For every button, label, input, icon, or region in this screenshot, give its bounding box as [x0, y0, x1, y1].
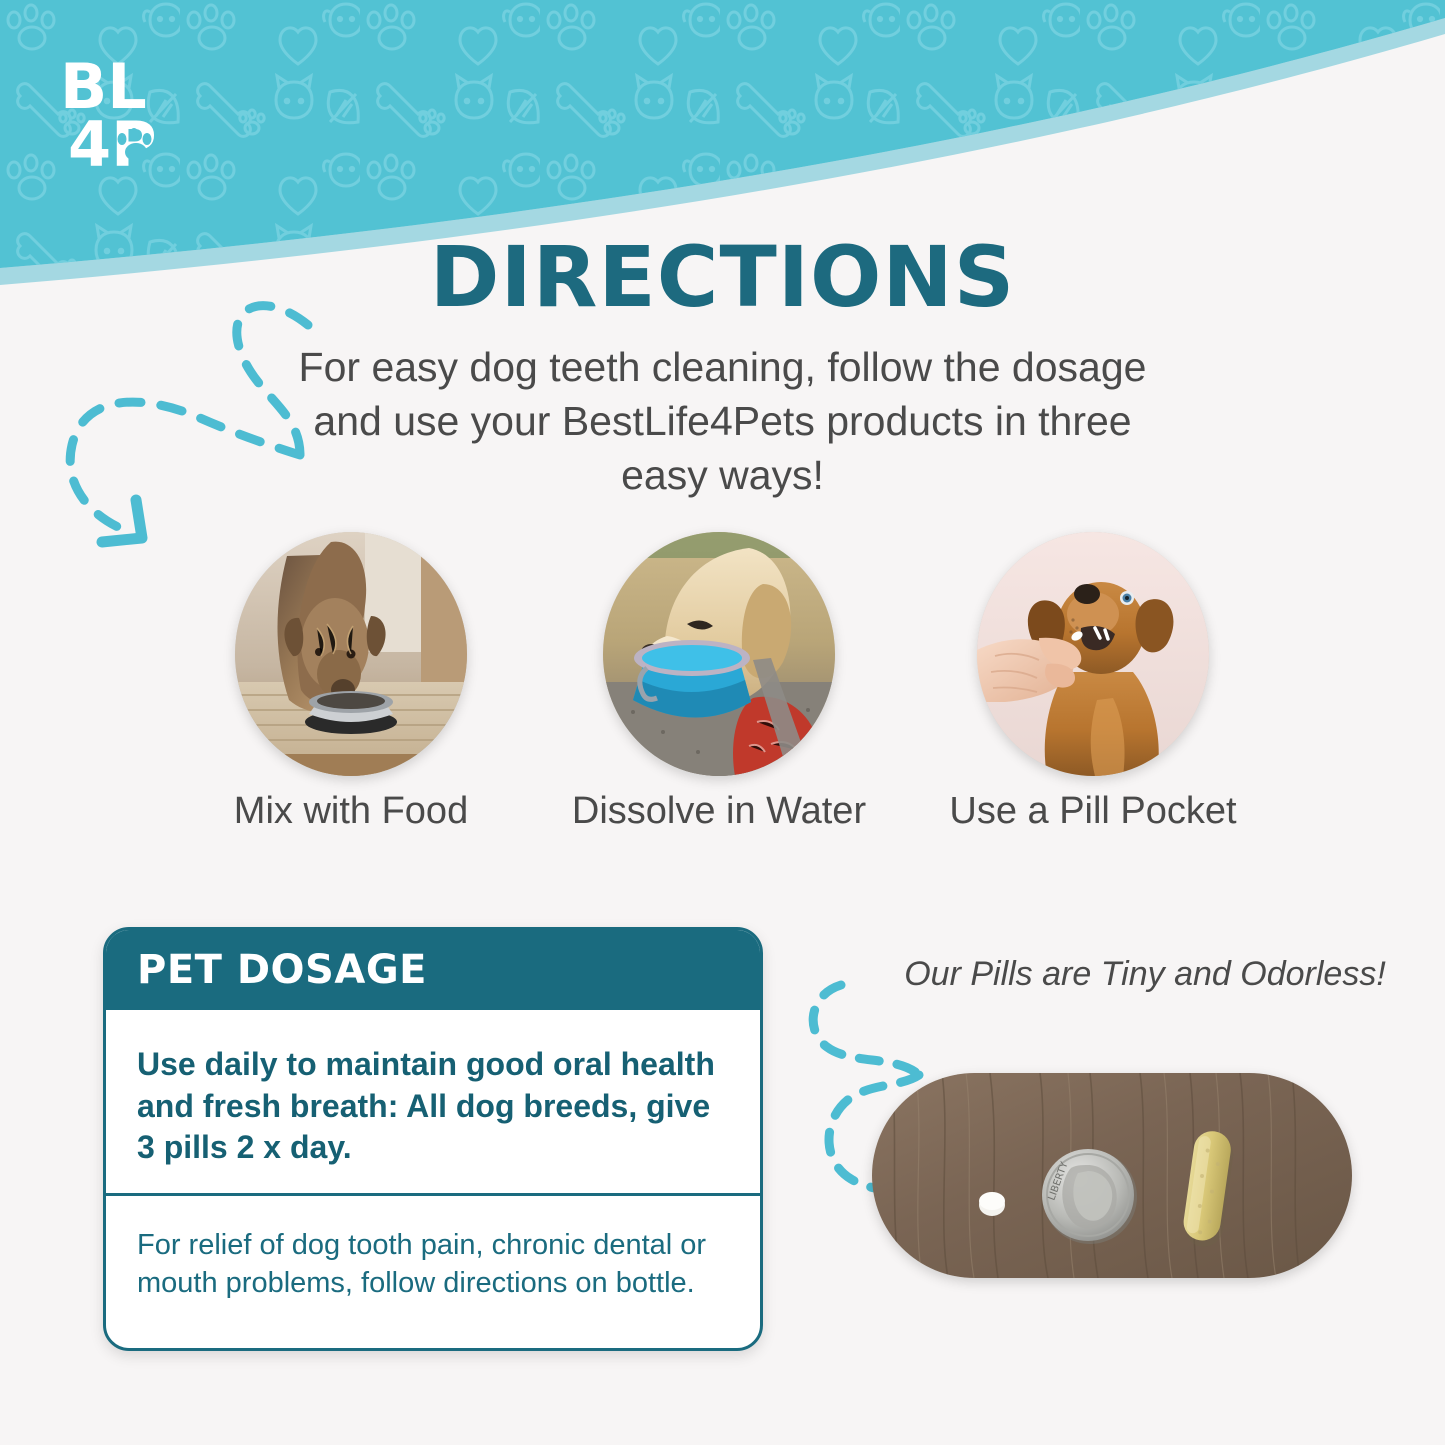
pet-dosage-card-header: PET DOSAGE: [106, 930, 760, 1010]
option-label-dissolve-in-water: Dissolve in Water: [548, 790, 890, 833]
option-image-use-a-pill-pocket: [977, 532, 1209, 776]
pet-dosage-secondary-section: For relief of dog tooth pain, chronic de…: [106, 1196, 760, 1303]
pills-scale-photo: LIBERTY: [872, 1073, 1352, 1278]
pet-dosage-card: PET DOSAGE Use daily to maintain good or…: [103, 927, 763, 1351]
option-use-a-pill-pocket[interactable]: Use a Pill Pocket: [977, 532, 1209, 776]
tiny-pill-icon: [979, 1192, 1005, 1216]
option-image-dissolve-in-water: [603, 532, 835, 776]
option-label-use-a-pill-pocket: Use a Pill Pocket: [922, 790, 1264, 833]
pet-dosage-primary-text: Use daily to maintain good oral health a…: [137, 1044, 730, 1169]
pet-dosage-title: PET DOSAGE: [137, 947, 427, 993]
options-row: Mix with Food: [0, 532, 1445, 842]
option-mix-with-food[interactable]: Mix with Food: [235, 532, 467, 776]
infographic-page: BL 4P DIRECTIONS For easy dog teeth clea…: [0, 0, 1445, 1445]
page-subtitle: For easy dog teeth cleaning, follow the …: [290, 340, 1155, 502]
pet-dosage-primary-section: Use daily to maintain good oral health a…: [106, 1010, 760, 1196]
dashed-arrow-left-icon: [50, 280, 340, 570]
brand-logo: BL 4P: [58, 46, 178, 171]
option-dissolve-in-water[interactable]: Dissolve in Water: [603, 532, 835, 776]
option-image-mix-with-food: [235, 532, 467, 776]
pet-dosage-secondary-text: For relief of dog tooth pain, chronic de…: [137, 1226, 734, 1303]
option-label-mix-with-food: Mix with Food: [180, 790, 522, 833]
